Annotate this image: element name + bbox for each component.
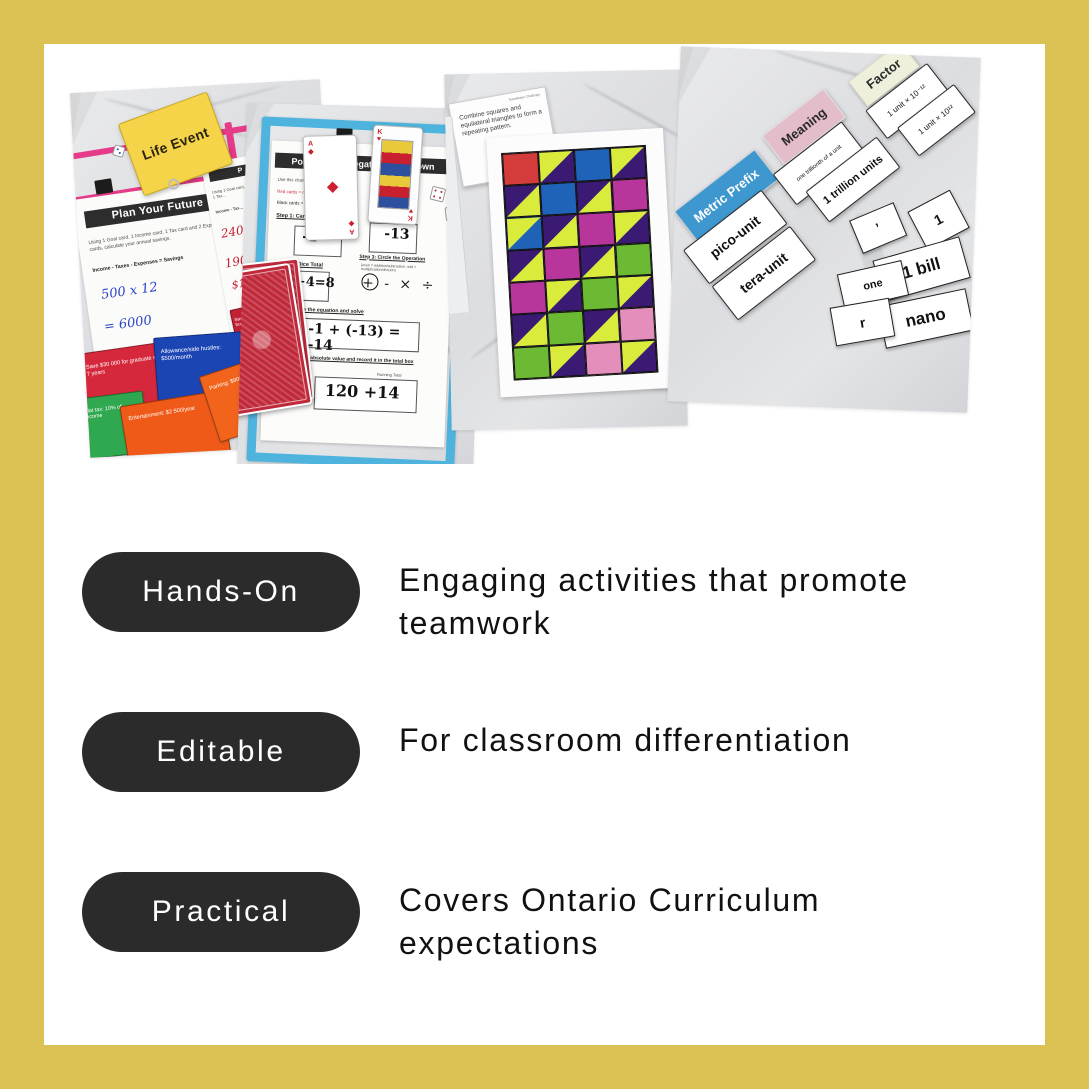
tessellation-triangle <box>505 184 540 216</box>
feature-list: Hands-On Engaging activities that promot… <box>44 510 1045 1045</box>
feature-description-hands-on: Engaging activities that promote teamwor… <box>399 552 999 644</box>
king-face-artwork <box>377 139 414 210</box>
worksheet-title: Plan Your Future <box>111 196 204 221</box>
tessellation-triangle <box>539 150 574 182</box>
playing-card-king-hearts[interactable]: K♥ K♥ <box>367 124 423 224</box>
tessellation-cell <box>583 309 621 343</box>
tessellation-cell <box>540 181 578 215</box>
tessellation-cell <box>543 246 581 280</box>
playing-card-ace-diamonds[interactable]: A◆ ◆ A◆ <box>303 135 360 241</box>
feature-tag-hands-on[interactable]: Hands-On <box>82 552 360 632</box>
tessellation-cell <box>620 339 658 373</box>
step-5-total-box[interactable]: 120 +14 <box>313 376 417 413</box>
tessellation-cell <box>577 212 615 246</box>
tessellation-cell <box>573 147 611 181</box>
feature-row-practical: Practical Covers Ontario Curriculum expe… <box>82 872 1012 952</box>
card-corner-rank: A◆ <box>308 141 314 156</box>
tessellation-triangle <box>584 310 619 342</box>
tessellation-cell <box>506 216 544 250</box>
tessellation-cell <box>509 280 547 314</box>
circled-plus-marker <box>361 273 379 291</box>
tessellation-cell <box>547 311 585 345</box>
life-event-label: Life Event <box>140 124 211 163</box>
tessellation-cell <box>545 278 583 312</box>
photo-collage: Plan Your Future Using 1 Goal card, 1 In… <box>44 44 1045 464</box>
card-corner-rank-bottom: A◆ <box>348 219 354 234</box>
feature-description-editable: For classroom differentiation <box>399 712 851 762</box>
tessellation-triangle <box>509 249 544 281</box>
binder-clip-1 <box>94 178 113 195</box>
card-center-pip: ◆ <box>327 177 339 195</box>
step-4-value-box[interactable]: -1 + (-13) = -14 <box>297 317 420 352</box>
worksheet-title-bar: Positive and Negative Showdown <box>274 152 451 174</box>
tessellation-triangle <box>580 245 615 277</box>
secondary-formula: Income - Tax... <box>215 205 243 215</box>
tessellation-triangle <box>621 340 656 372</box>
tessellation-triangle <box>550 344 585 376</box>
step-1-value-2: -13 <box>384 226 410 243</box>
tessellation-cell <box>584 341 622 375</box>
step-3-label: Step 3: Circle the Operation <box>359 253 425 262</box>
step-5-value: 120 +14 <box>324 380 399 402</box>
card-text: Allowance/side hustles: $500/month <box>161 344 244 364</box>
feature-tag-practical[interactable]: Practical <box>82 872 360 952</box>
tessellation-cell <box>611 177 649 211</box>
photo-metric-prefix-cards[interactable]: Metric Prefix Meaning Factor pico-unit o… <box>667 46 980 412</box>
tessellation-cell <box>575 179 613 213</box>
tessellation-cell <box>507 248 545 282</box>
handwriting-line-1: 500 x 12 <box>100 279 159 302</box>
tessellation-triangle <box>542 215 577 247</box>
step-3-hint: (even = addition/subtraction, odd = mult… <box>360 262 441 274</box>
tessellation-triangle <box>576 180 611 212</box>
feature-row-editable: Editable For classroom differentiation <box>82 712 1012 792</box>
tessellation-triangle <box>507 217 542 249</box>
feature-card: Plan Your Future Using 1 Goal card, 1 In… <box>44 44 1045 1045</box>
tessellation-triangle <box>614 211 649 243</box>
tessellation-cell <box>615 242 653 276</box>
tessellation-triangle <box>610 146 645 178</box>
card-text: Entertainment: $2 500/year <box>128 403 216 424</box>
running-total-label: Running Total <box>377 371 402 377</box>
tessellation-cell <box>613 210 651 244</box>
feature-row-hands-on: Hands-On Engaging activities that promot… <box>82 552 1012 632</box>
handwriting-line-2: = 6000 <box>103 312 153 334</box>
tessellation-cell <box>618 307 656 341</box>
tessellation-cell <box>502 151 540 185</box>
tessellation-cell <box>549 343 587 377</box>
feature-tag-editable[interactable]: Editable <box>82 712 360 792</box>
tessellation-triangle <box>546 279 581 311</box>
feature-description-practical: Covers Ontario Curriculum expectations <box>399 872 959 964</box>
tessellation-cell <box>538 149 576 183</box>
tessellation-cell <box>511 313 549 347</box>
tessellation-cell <box>609 145 647 179</box>
tessellation-cell <box>513 345 551 379</box>
tessellation-cell <box>579 244 617 278</box>
tessellation-cell <box>504 183 542 217</box>
tessellation-cell <box>541 214 579 248</box>
tessellation-cell <box>616 274 654 308</box>
tessellation-triangle <box>617 275 652 307</box>
card-corner-rank-bottom: K♥ <box>408 206 414 220</box>
tessellation-sheet[interactable] <box>486 127 677 396</box>
tessellation-triangle <box>512 314 547 346</box>
task-card-text: Combine squares and equilateral triangle… <box>459 100 546 139</box>
step-1-value-box-2[interactable]: -13 <box>368 222 417 254</box>
tessellation-grid[interactable] <box>501 144 659 380</box>
step-4-value: -1 + (-13) = -14 <box>307 320 418 356</box>
photo-tessellation-activity[interactable]: Tessellation Challenge Combine squares a… <box>444 70 687 431</box>
worksheet-subtitle: Use this chart <box>277 176 304 183</box>
tessellation-cell <box>581 276 619 310</box>
